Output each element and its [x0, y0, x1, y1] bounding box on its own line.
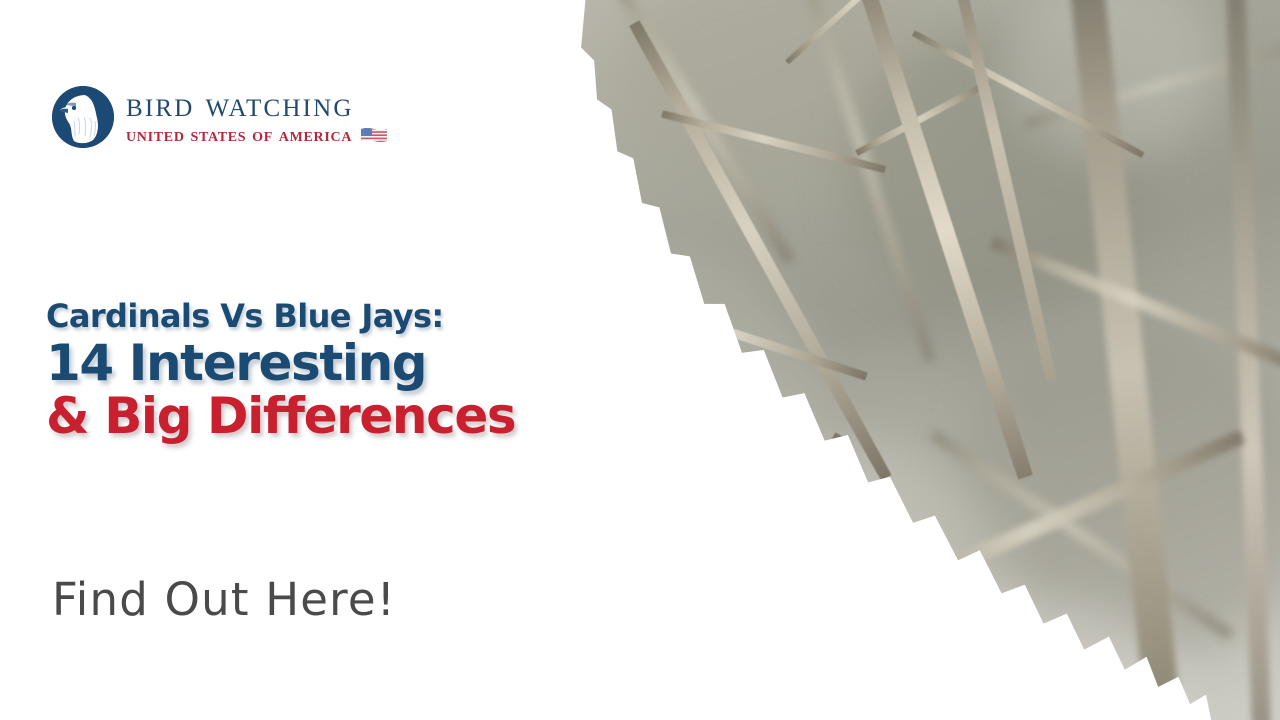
headline-line-3: & Big Differences [46, 391, 646, 441]
brand-name: Bird Watching [126, 87, 387, 123]
branch [584, 470, 725, 720]
headline-line-2: 14 Interesting [46, 338, 646, 388]
hero-photo [555, 0, 1280, 720]
branch [715, 432, 844, 645]
cta-text[interactable]: Find Out Here! [52, 573, 396, 626]
bald-eagle-head-icon [52, 86, 114, 148]
headline-line-1: Cardinals Vs Blue Jays: [46, 300, 646, 332]
brand-tagline-row: United States of America [126, 124, 387, 147]
photo-background [555, 0, 1280, 720]
brand-logo[interactable]: Bird Watching United States of America [52, 86, 387, 148]
headline-block: Cardinals Vs Blue Jays: 14 Interesting &… [46, 300, 646, 441]
us-flag-icon [361, 127, 387, 144]
brand-tagline: United States of America [126, 124, 352, 147]
poster-canvas: Bird Watching United States of America [0, 0, 1280, 720]
branch-foreground [673, 330, 792, 649]
brand-wordmark: Bird Watching United States of America [126, 87, 387, 148]
